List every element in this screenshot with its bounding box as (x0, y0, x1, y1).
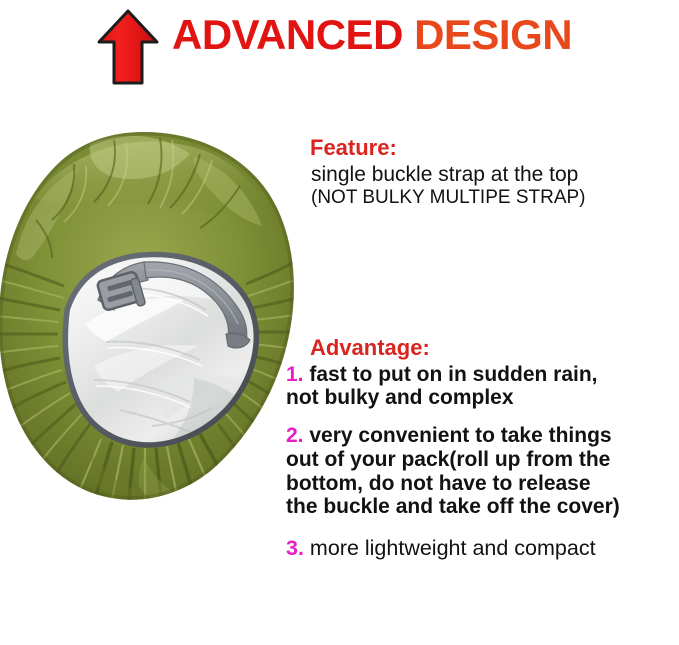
advantage-item-3-line-1: 3. more lightweight and compact (286, 536, 679, 560)
advantage-number-3: 3. (286, 536, 304, 560)
advantage-number-2: 2. (286, 424, 304, 447)
advantage-item-1-line-2: not bulky and complex (286, 386, 679, 410)
info-text-column: Feature: single buckle strap at the top … (286, 136, 679, 560)
advantage-item-2-line-1: 2. very convenient to take things (286, 424, 679, 448)
feature-heading: Feature: (310, 136, 679, 161)
advantage-item-2: 2. very convenient to take things out of… (286, 424, 679, 519)
headline-word-design: DESIGN (414, 11, 572, 58)
advantage-item-2-text-1: very convenient to take things (309, 424, 611, 447)
page-title: ADVANCED DESIGN (172, 14, 572, 56)
feature-line-2: (NOT BULKY MULTIPE STRAP) (311, 187, 679, 209)
headline-word-advanced: ADVANCED (172, 11, 403, 58)
up-arrow-icon (97, 9, 159, 85)
header-banner: ADVANCED DESIGN (0, 0, 679, 100)
advantage-item-1-line-1: 1. fast to put on in sudden rain, (286, 363, 679, 387)
feature-block: Feature: single buckle strap at the top … (286, 136, 679, 209)
item-spacer (286, 519, 679, 536)
advantage-item-1: 1. fast to put on in sudden rain, not bu… (286, 363, 679, 410)
advantage-block: Advantage: 1. fast to put on in sudden r… (286, 336, 679, 560)
advantage-item-2-line-3: bottom, do not have to release (286, 472, 679, 496)
feature-line-1: single buckle strap at the top (311, 163, 679, 187)
section-spacer (286, 209, 679, 336)
advantage-item-2-line-2: out of your pack(roll up from the (286, 448, 679, 472)
advantage-heading: Advantage: (310, 336, 679, 361)
advantage-item-3: 3. more lightweight and compact (286, 536, 679, 560)
item-spacer (286, 410, 679, 424)
advantage-item-2-line-4: the buckle and take off the cover) (286, 495, 679, 519)
advantage-item-1-text-1: fast to put on in sudden rain, (309, 363, 597, 386)
product-image-rain-cover (0, 128, 300, 506)
advantage-item-3-text-1: more lightweight and compact (310, 536, 596, 560)
advantage-number-1: 1. (286, 363, 304, 386)
